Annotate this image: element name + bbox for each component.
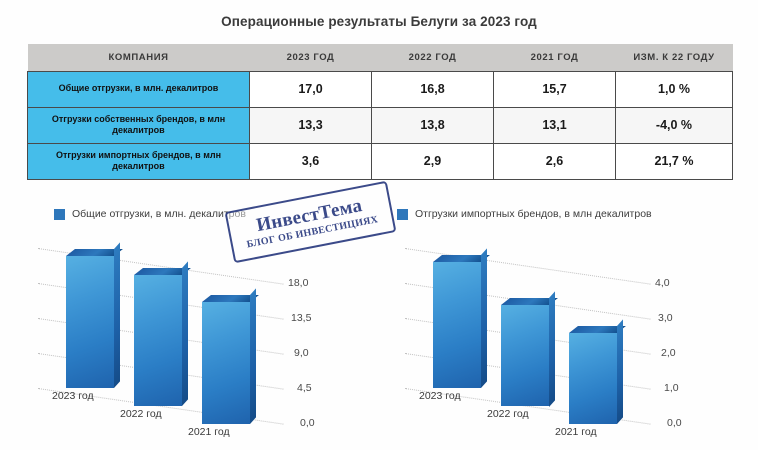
y-axis-tick-label: 3,0 xyxy=(658,312,673,324)
results-table-container: КОМПАНИЯ 2023 ГОД 2022 ГОД 2021 ГОД ИЗМ.… xyxy=(27,44,732,180)
y-axis-tick-label: 4,0 xyxy=(655,277,670,289)
bar-front-face xyxy=(501,305,549,407)
y-axis-tick-label: 0,0 xyxy=(667,417,682,429)
cell-2021: 13,1 xyxy=(494,107,616,143)
bar-side-face xyxy=(617,319,623,424)
cell-change: 1,0 % xyxy=(616,71,733,107)
plot-area: 0,04,59,013,518,02023 год2022 год2021 го… xyxy=(18,196,388,446)
cell-2022: 2,9 xyxy=(372,143,494,179)
column-header-2021: 2021 ГОД xyxy=(494,44,616,71)
table-body: Общие отгрузки, в млн. декалитров 17,0 1… xyxy=(28,71,733,179)
row-label-total-shipments: Общие отгрузки, в млн. декалитров xyxy=(28,71,250,107)
x-axis-category-label: 2023 год xyxy=(419,390,461,402)
table-row: Общие отгрузки, в млн. декалитров 17,0 1… xyxy=(28,71,733,107)
bar-side-face xyxy=(250,288,256,424)
y-axis-tick-label: 0,0 xyxy=(300,417,315,429)
x-axis-category-label: 2021 год xyxy=(555,426,597,438)
table-row: Отгрузки импортных брендов, в млн декали… xyxy=(28,143,733,179)
row-label-own-brands: Отгрузки собственных брендов, в млн дека… xyxy=(28,107,250,143)
bar-front-face xyxy=(569,333,617,424)
bar-2021-год xyxy=(569,333,617,424)
cell-2022: 13,8 xyxy=(372,107,494,143)
table-header: КОМПАНИЯ 2023 ГОД 2022 ГОД 2021 ГОД ИЗМ.… xyxy=(28,44,733,71)
cell-2023: 17,0 xyxy=(250,71,372,107)
bar-2023-год xyxy=(433,262,481,388)
cell-2023: 13,3 xyxy=(250,107,372,143)
y-axis-tick-label: 18,0 xyxy=(288,277,308,289)
y-axis-tick-label: 1,0 xyxy=(664,382,679,394)
bar-side-face xyxy=(114,242,120,388)
slide-canvas: Операционные результаты Белуги за 2023 г… xyxy=(0,0,758,450)
x-axis-category-label: 2022 год xyxy=(120,408,162,420)
cell-2023: 3,6 xyxy=(250,143,372,179)
bar-front-face xyxy=(134,275,182,406)
bar-2022-год xyxy=(134,275,182,406)
bar-2022-год xyxy=(501,305,549,407)
cell-2022: 16,8 xyxy=(372,71,494,107)
table-row: Отгрузки собственных брендов, в млн дека… xyxy=(28,107,733,143)
y-axis-tick-label: 4,5 xyxy=(297,382,312,394)
cell-2021: 2,6 xyxy=(494,143,616,179)
x-axis-category-label: 2021 год xyxy=(188,426,230,438)
x-axis-category-label: 2023 год xyxy=(52,390,94,402)
column-header-company: КОМПАНИЯ xyxy=(28,44,250,71)
results-table: КОМПАНИЯ 2023 ГОД 2022 ГОД 2021 ГОД ИЗМ.… xyxy=(27,44,733,180)
bar-front-face xyxy=(433,262,481,388)
cell-2021: 15,7 xyxy=(494,71,616,107)
bar-side-face xyxy=(182,262,188,406)
bar-side-face xyxy=(481,248,487,388)
chart-total-shipments: Общие отгрузки, в млн. декалитров 0,04,5… xyxy=(18,196,388,446)
page-title: Операционные результаты Белуги за 2023 г… xyxy=(0,14,758,29)
bar-front-face xyxy=(202,302,250,424)
y-axis-tick-label: 13,5 xyxy=(291,312,311,324)
cell-change: -4,0 % xyxy=(616,107,733,143)
y-axis-tick-label: 9,0 xyxy=(294,347,309,359)
column-header-change: ИЗМ. К 22 ГОДУ xyxy=(616,44,733,71)
bar-2021-год xyxy=(202,302,250,424)
y-axis-tick-label: 2,0 xyxy=(661,347,676,359)
bar-2023-год xyxy=(66,256,114,388)
x-axis-category-label: 2022 год xyxy=(487,408,529,420)
bar-front-face xyxy=(66,256,114,388)
bar-side-face xyxy=(549,291,555,406)
cell-change: 21,7 % xyxy=(616,143,733,179)
plot-area: 0,01,02,03,04,02023 год2022 год2021 год xyxy=(385,196,755,446)
row-label-imported-brands: Отгрузки импортных брендов, в млн декали… xyxy=(28,143,250,179)
column-header-2023: 2023 ГОД xyxy=(250,44,372,71)
chart-imported-brands: Отгрузки импортных брендов, в млн декали… xyxy=(385,196,755,446)
column-header-2022: 2022 ГОД xyxy=(372,44,494,71)
table-header-row: КОМПАНИЯ 2023 ГОД 2022 ГОД 2021 ГОД ИЗМ.… xyxy=(28,44,733,71)
